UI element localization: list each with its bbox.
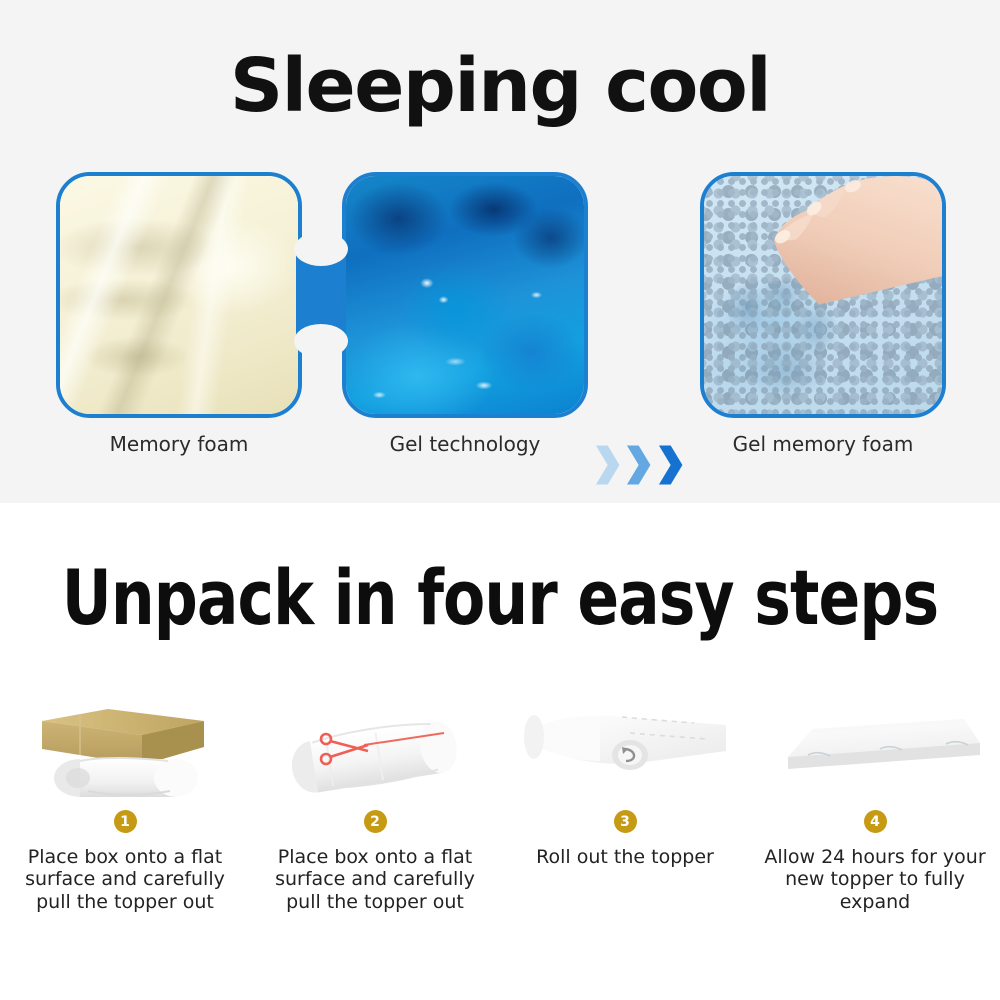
boxed-rolled-topper-icon	[18, 683, 233, 798]
page-title-unpack-steps: Unpack in four easy steps	[50, 553, 950, 642]
blue-gel-texture-icon	[346, 176, 584, 414]
step-badge: 4	[864, 810, 887, 833]
panel-gel-technology	[342, 172, 588, 418]
flat-expanded-topper-icon	[768, 683, 983, 798]
step-item: 3 Roll out the topper	[500, 683, 750, 983]
step-description: Place box onto a flat surface and carefu…	[9, 846, 241, 913]
panel-connector-icon	[296, 254, 346, 336]
unrolling-topper-icon	[518, 683, 733, 798]
technology-panels	[0, 172, 1000, 418]
steps-list: 1 Place box onto a flat surface and care…	[0, 683, 1000, 983]
page-title-sleeping-cool: Sleeping cool	[0, 48, 1000, 126]
step-item: 1 Place box onto a flat surface and care…	[0, 683, 250, 983]
step-item: 2 Place box onto a flat surface and care…	[250, 683, 500, 983]
triple-chevron-right-icon	[594, 434, 686, 496]
step-description: Place box onto a flat surface and carefu…	[259, 846, 491, 913]
memory-foam-texture-icon	[60, 176, 298, 414]
step-badge: 1	[114, 810, 137, 833]
chevron-right-icon-light	[594, 441, 623, 489]
unpack-steps-section: Unpack in four easy steps	[0, 503, 1000, 1000]
caption-gel-memory-foam: Gel memory foam	[700, 432, 946, 456]
sleeping-cool-section: Sleeping cool	[0, 0, 1000, 503]
chevron-right-icon-mid	[625, 441, 654, 489]
wrapped-roll-with-scissors-icon	[268, 683, 483, 798]
chevron-right-icon-dark	[657, 441, 686, 489]
step-description: Roll out the topper	[509, 846, 741, 868]
step-description: Allow 24 hours for your new topper to fu…	[759, 846, 991, 913]
caption-memory-foam: Memory foam	[56, 432, 302, 456]
caption-gel-technology: Gel technology	[342, 432, 588, 456]
step-badge: 2	[364, 810, 387, 833]
gel-foam-texture-icon	[704, 176, 942, 414]
panel-gel-memory-foam	[700, 172, 946, 418]
panel-memory-foam	[56, 172, 302, 418]
step-item: 4 Allow 24 hours for your new topper to …	[750, 683, 1000, 983]
step-badge: 3	[614, 810, 637, 833]
